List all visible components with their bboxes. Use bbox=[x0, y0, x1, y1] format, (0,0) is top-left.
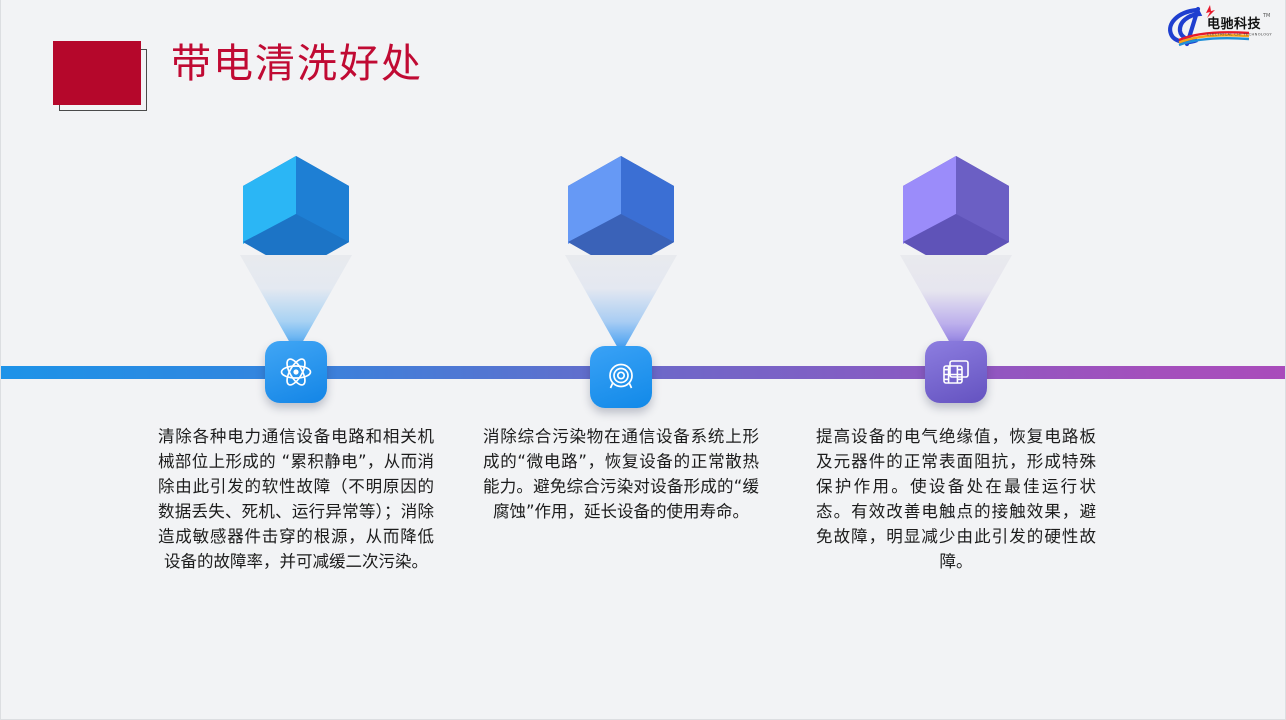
column-body-text-2: 消除综合污染物在通信设备系统上形成的“微电路”，恢复设备的正常散热能力。避免综合… bbox=[483, 424, 759, 524]
logo-chinese-text: 电驰科技 bbox=[1207, 16, 1262, 32]
beam-graphic-1 bbox=[236, 255, 356, 350]
target-icon bbox=[604, 360, 638, 394]
icon-tile-film-strip[interactable] bbox=[925, 341, 987, 403]
logo-english-text: ELECTRICAL CHI TECHNOLOGY bbox=[1207, 33, 1272, 37]
logo-trademark-text: TM bbox=[1262, 13, 1270, 19]
slide-canvas: 带电清洗好处 电驰科技 ELECTRICAL CHI TECHNOLOGY TM bbox=[0, 0, 1286, 720]
beam-graphic-3 bbox=[896, 255, 1016, 350]
company-logo: 电驰科技 ELECTRICAL CHI TECHNOLOGY TM bbox=[1157, 2, 1277, 50]
column-1: 清除各种电力通信设备电路和相关机械部位上形成的 “累积静电”，从而消除由此引发的… bbox=[126, 0, 466, 720]
atom-icon bbox=[279, 355, 313, 389]
column-2: 消除综合污染物在通信设备系统上形成的“微电路”，恢复设备的正常散热能力。避免综合… bbox=[451, 0, 791, 720]
column-body-text-1: 清除各种电力通信设备电路和相关机械部位上形成的 “累积静电”，从而消除由此引发的… bbox=[158, 424, 434, 574]
icon-tile-target[interactable] bbox=[590, 346, 652, 408]
column-3: 提高设备的电气绝缘值，恢复电路板及元器件的正常表面阻抗，形成特殊保护作用。使设备… bbox=[786, 0, 1126, 720]
film-strip-icon bbox=[939, 355, 973, 389]
column-body-text-3: 提高设备的电气绝缘值，恢复电路板及元器件的正常表面阻抗，形成特殊保护作用。使设备… bbox=[816, 424, 1096, 574]
beam-graphic-2 bbox=[561, 255, 681, 350]
icon-tile-atom[interactable] bbox=[265, 341, 327, 403]
